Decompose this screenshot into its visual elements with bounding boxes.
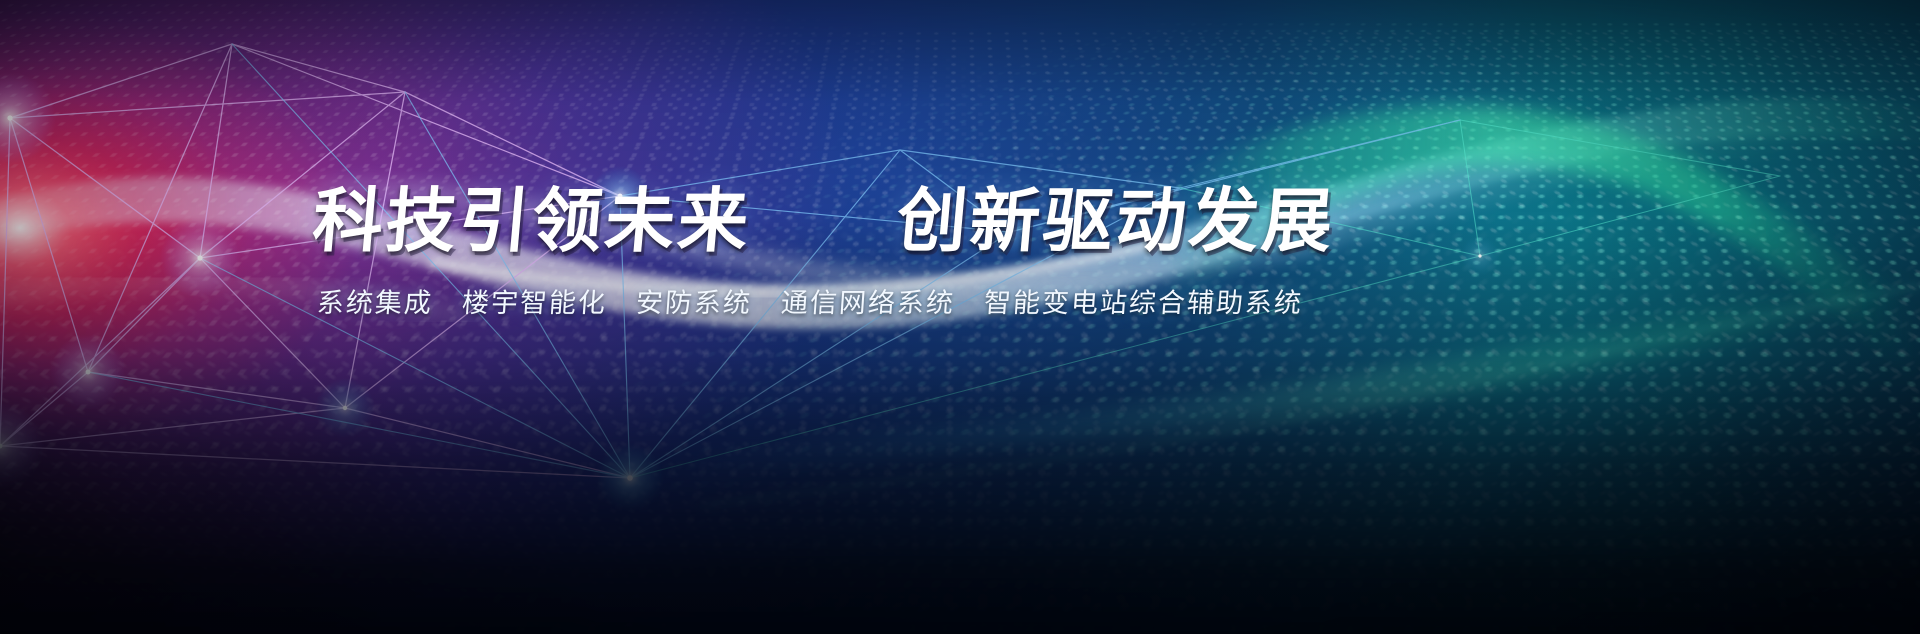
banner-subtitle: 系统集成 楼宇智能化 安防系统 通信网络系统 智能变电站综合辅助系统 — [316, 290, 1612, 317]
banner-copy: 科技引领未来 创新驱动发展 系统集成 楼宇智能化 安防系统 通信网络系统 智能变… — [310, 186, 1610, 317]
banner-headline: 科技引领未来 创新驱动发展 — [310, 186, 1616, 256]
hero-banner: 科技引领未来 创新驱动发展 系统集成 楼宇智能化 安防系统 通信网络系统 智能变… — [0, 0, 1920, 634]
